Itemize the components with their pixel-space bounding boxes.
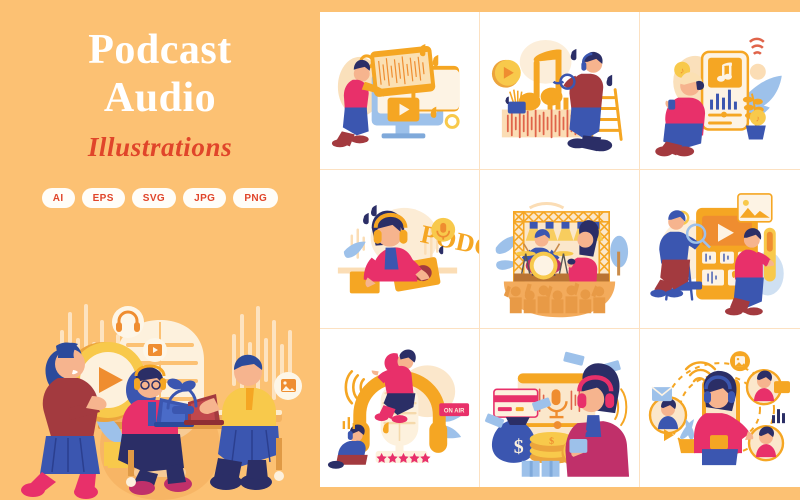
title-block: Podcast Audio Illustrations — [0, 26, 320, 163]
mail-icon — [652, 387, 672, 401]
on-air-badge: ON AIR — [439, 403, 469, 416]
page-subtitle: Illustrations — [0, 132, 320, 163]
svg-text:ON AIR: ON AIR — [444, 408, 465, 414]
image-card — [738, 194, 772, 222]
svg-text:♪: ♪ — [680, 66, 684, 76]
grid-item-podcast-social-network[interactable] — [640, 329, 800, 487]
gift-boxes — [522, 460, 560, 476]
hero-illustration — [0, 290, 320, 500]
headphones-icon — [112, 306, 144, 338]
wifi-signal — [750, 39, 764, 54]
format-badge-jpg[interactable]: JPG — [183, 188, 226, 208]
badge-top — [730, 351, 750, 371]
grid-item-mobile-music-player[interactable]: ♪ ♪ — [640, 12, 800, 170]
format-badge-eps[interactable]: EPS — [82, 188, 125, 208]
grid-item-podcast-rating-mic[interactable]: ON AIR — [320, 329, 480, 487]
grid-item-live-concert-stage[interactable] — [480, 170, 640, 328]
grid-item-podcast-host-headphones[interactable]: PODCAST — [320, 170, 480, 328]
grid-item-music-note-ladder[interactable] — [480, 12, 640, 170]
avatar-top-right — [747, 370, 790, 404]
page-title-line-2: Audio — [0, 74, 320, 122]
format-badge-png[interactable]: PNG — [233, 188, 278, 208]
left-title-panel: Podcast Audio Illustrations AI EPS SVG J… — [0, 0, 320, 500]
format-badge-ai[interactable]: AI — [42, 188, 75, 208]
play-coin-icon — [492, 60, 521, 88]
grid-item-desktop-audio-editor[interactable] — [320, 12, 480, 170]
illustration-grid: ♪ ♪ — [320, 12, 800, 487]
mic-badge-icon — [431, 218, 455, 242]
image-icon — [274, 372, 302, 400]
grid-item-podcast-monetization[interactable]: $ $ $ — [480, 329, 640, 487]
video-icon — [143, 338, 167, 362]
credit-card — [494, 389, 538, 417]
svg-text:$: $ — [549, 436, 554, 447]
format-badge-list: AI EPS SVG JPG PNG — [0, 188, 320, 208]
page-title-line-1: Podcast — [0, 26, 320, 74]
avatar-left — [650, 397, 686, 441]
avatar-bottom-right — [749, 426, 783, 460]
coin-badge-bottom: ♪ — [750, 110, 766, 126]
grid-item-media-app-builder[interactable] — [640, 170, 800, 328]
svg-text:♪: ♪ — [756, 114, 760, 124]
format-badge-svg[interactable]: SVG — [132, 188, 176, 208]
svg-text:$: $ — [514, 436, 524, 458]
poster-canvas: Podcast Audio Illustrations AI EPS SVG J… — [0, 0, 800, 500]
